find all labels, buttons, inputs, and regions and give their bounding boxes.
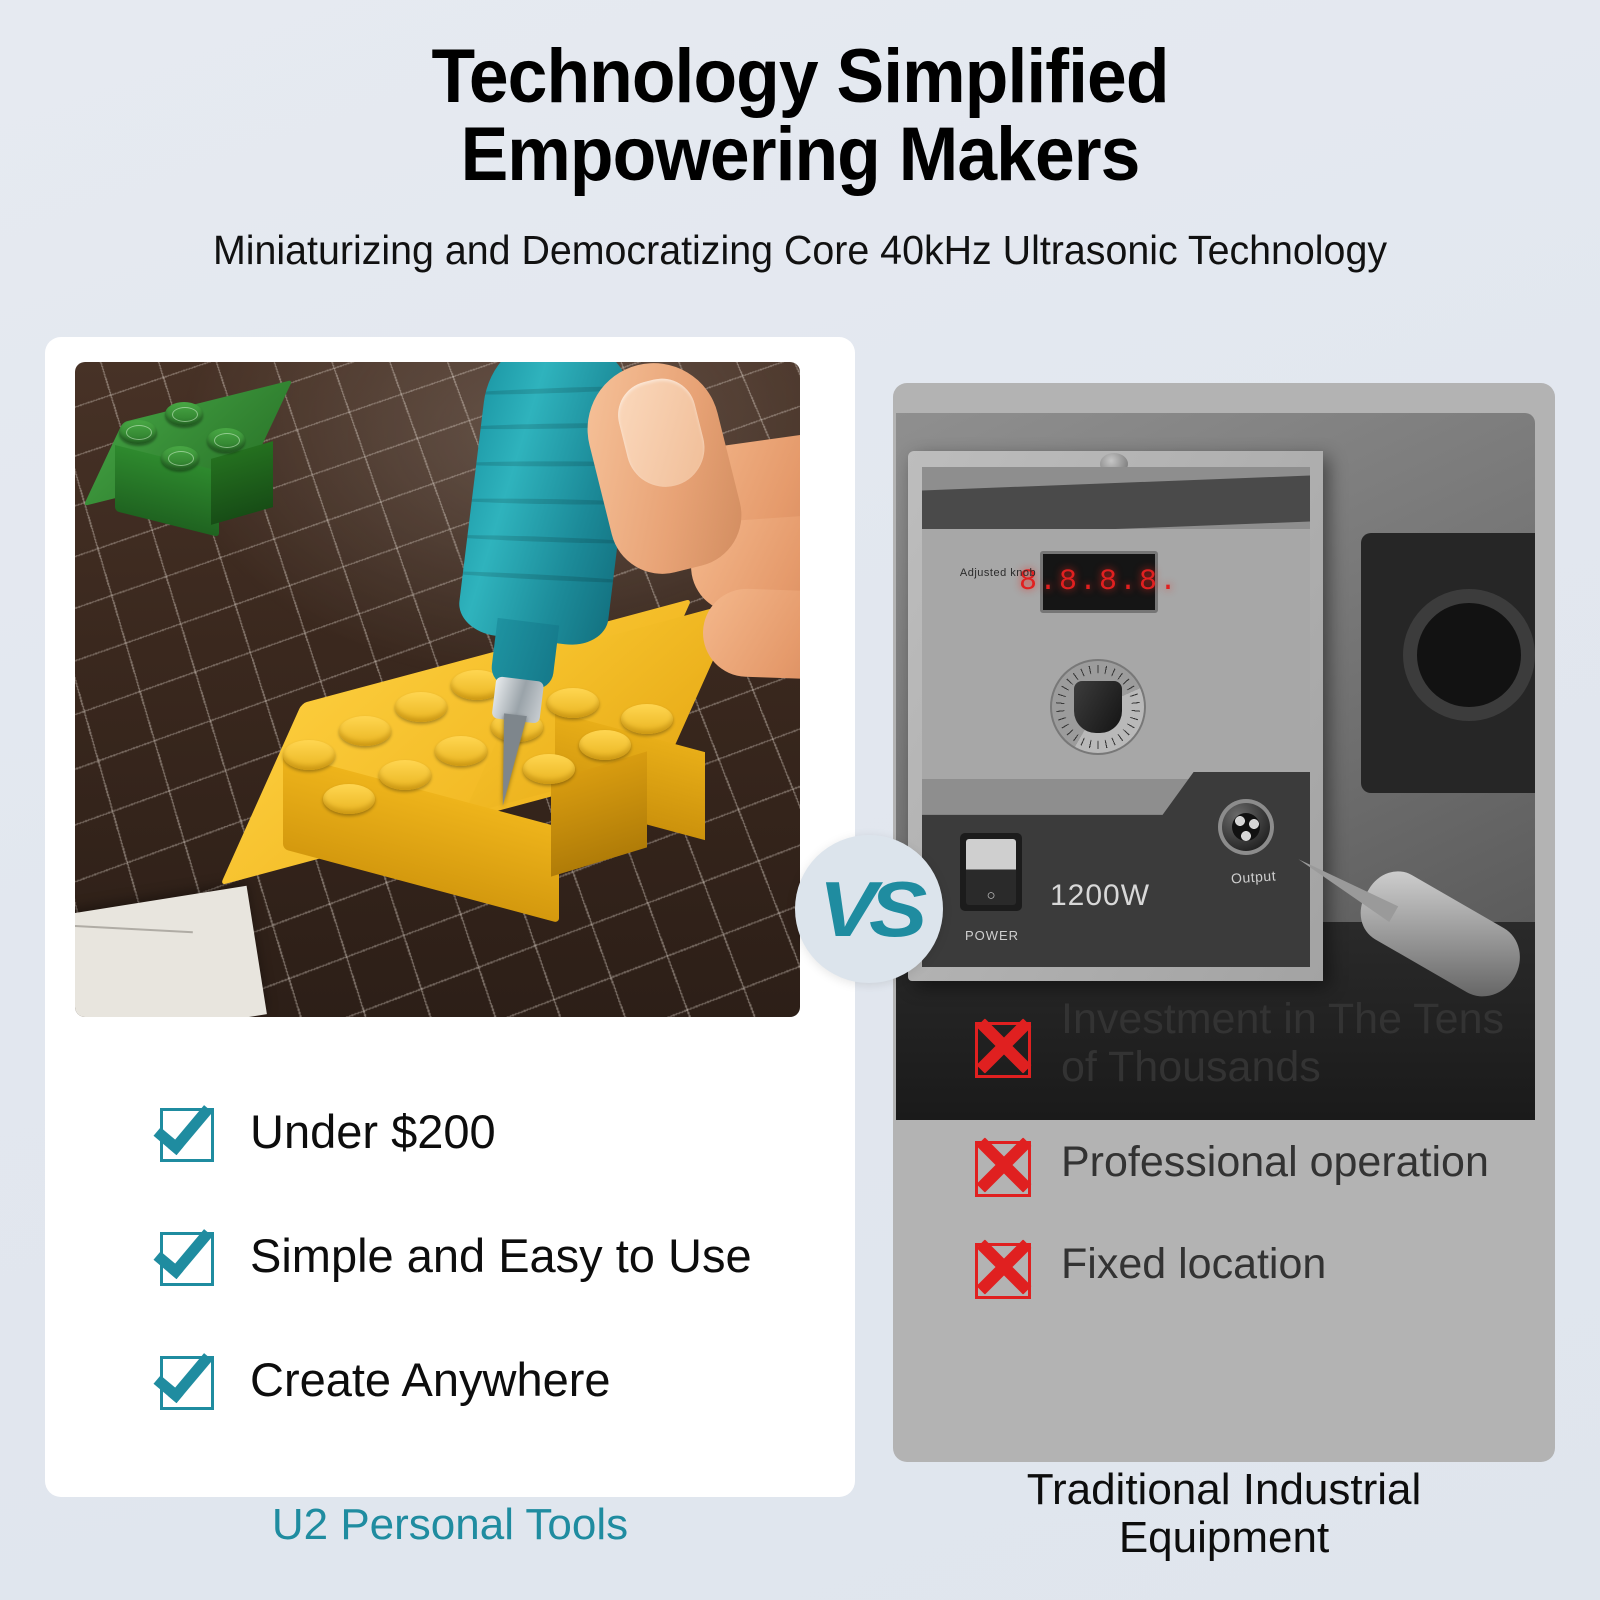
con-label: Investment in The Tens of Thousands — [1061, 995, 1535, 1091]
pros-list: Under $200 Simple and Easy to Use Create… — [160, 1100, 860, 1472]
con-label: Professional operation — [1061, 1138, 1489, 1186]
knob-cap — [1074, 681, 1122, 733]
seven-segment-display: 8.8.8.8. — [1040, 551, 1158, 613]
check-icon — [160, 1100, 222, 1162]
check-icon — [160, 1348, 222, 1410]
brick-stud — [165, 402, 203, 426]
brick-stud — [283, 740, 335, 770]
con-label: Fixed location — [1061, 1240, 1326, 1288]
thumb — [574, 362, 753, 585]
list-item: Under $200 — [160, 1100, 860, 1162]
title-line-1: Technology Simplified — [48, 38, 1552, 116]
output-port — [1218, 799, 1274, 855]
cons-list: Investment in The Tens of Thousands Prof… — [975, 995, 1535, 1335]
right-panel-caption: Traditional Industrial Equipment — [893, 1466, 1555, 1563]
pro-label: Simple and Easy to Use — [250, 1228, 752, 1283]
finger — [702, 587, 800, 680]
title-line-2: Empowering Makers — [48, 116, 1552, 194]
tool-holder — [1361, 533, 1535, 793]
output-label: Output — [1230, 867, 1276, 886]
left-panel-caption: U2 Personal Tools — [45, 1500, 855, 1550]
list-item: Professional operation — [975, 1131, 1535, 1193]
brick-stud — [161, 446, 199, 470]
brick-stud — [119, 420, 157, 444]
list-item: Fixed location — [975, 1233, 1535, 1295]
thumbnail — [611, 371, 713, 495]
page-subtitle: Miniaturizing and Democratizing Core 40k… — [32, 227, 1568, 274]
green-brick — [103, 384, 273, 524]
right-caption-line-2: Equipment — [893, 1514, 1555, 1562]
machine-front-panel: 8.8.8.8. Adjusted knob POWER 1200W Outpu… — [922, 467, 1310, 967]
header: Technology Simplified Empowering Makers … — [0, 0, 1600, 274]
page-title: Technology Simplified Empowering Makers — [48, 0, 1552, 193]
vs-label: VS — [819, 864, 920, 955]
right-caption-line-1: Traditional Industrial — [893, 1466, 1555, 1514]
pro-label: Create Anywhere — [250, 1352, 611, 1407]
knob-label: Adjusted knob — [928, 567, 1068, 579]
industrial-generator: 8.8.8.8. Adjusted knob POWER 1200W Outpu… — [908, 451, 1323, 981]
list-item: Simple and Easy to Use — [160, 1224, 860, 1286]
list-item: Investment in The Tens of Thousands — [975, 995, 1535, 1091]
brick-stud — [323, 784, 375, 814]
cross-icon — [975, 1233, 1037, 1295]
personal-tool-photo — [75, 362, 800, 1017]
adjustment-knob[interactable] — [1050, 659, 1146, 755]
brick-stud — [207, 428, 245, 452]
cross-icon — [975, 1012, 1037, 1074]
panel-accent-strip — [922, 476, 1310, 537]
check-icon — [160, 1224, 222, 1286]
vs-badge: VS — [795, 835, 943, 983]
wattage-label: 1200W — [1050, 879, 1150, 913]
cross-icon — [975, 1131, 1037, 1193]
power-label: POWER — [946, 928, 1038, 943]
power-switch[interactable] — [960, 833, 1022, 911]
list-item: Create Anywhere — [160, 1348, 860, 1410]
hand — [583, 362, 800, 752]
pro-label: Under $200 — [250, 1104, 496, 1159]
